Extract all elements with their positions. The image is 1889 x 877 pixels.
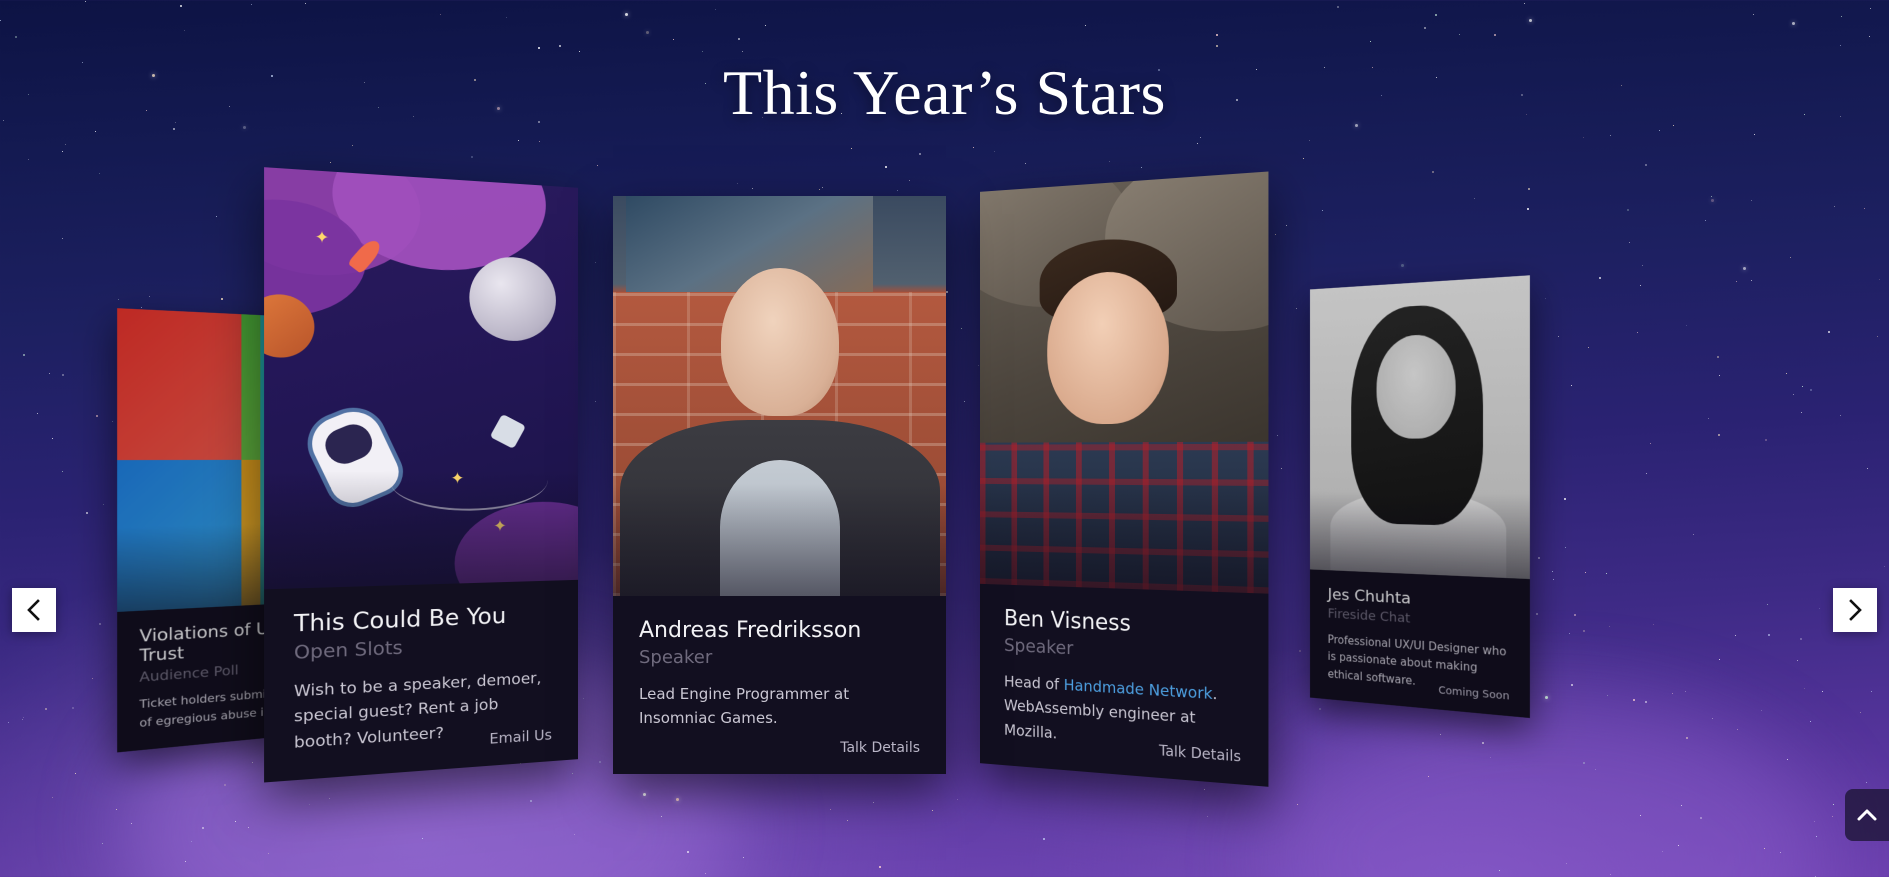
speaker-carousel: Violations of User Trust Audience Poll T… bbox=[0, 0, 1889, 877]
scroll-to-top-button[interactable] bbox=[1845, 789, 1889, 841]
card-description: Lead Engine Programmer at Insomniac Game… bbox=[639, 682, 920, 731]
portrait-photo bbox=[613, 196, 946, 596]
carousel-prev-button[interactable] bbox=[12, 588, 56, 632]
portrait-photo bbox=[1310, 275, 1530, 579]
card-description-text: Professional UX/UI Designer who is passi… bbox=[1328, 633, 1507, 687]
carousel-card-jes-chuhta[interactable]: Jes Chuhta Fireside Chat Professional UX… bbox=[1310, 275, 1530, 718]
card-description-prefix: Head of bbox=[1004, 672, 1064, 693]
card-body: Ben Visness Speaker Head of Handmade Net… bbox=[980, 584, 1268, 787]
carousel-card-andreas-fredriksson[interactable]: Andreas Fredriksson Speaker Lead Engine … bbox=[613, 196, 946, 774]
astronaut-illustration: ✦ ✦ ✦ bbox=[264, 167, 578, 589]
carousel-next-button[interactable] bbox=[1833, 588, 1877, 632]
card-cta-link[interactable]: Talk Details bbox=[840, 740, 920, 756]
card-title: Andreas Fredriksson bbox=[639, 618, 920, 644]
chevron-up-icon bbox=[1856, 808, 1878, 822]
portrait-photo bbox=[980, 171, 1268, 593]
card-description-text: Lead Engine Programmer at Insomniac Game… bbox=[639, 685, 849, 727]
card-media-portrait bbox=[980, 171, 1268, 593]
card-role: Speaker bbox=[639, 647, 920, 669]
card-cta-link[interactable]: Email Us bbox=[489, 727, 551, 747]
card-body: This Could Be You Open Slots Wish to be … bbox=[264, 580, 578, 783]
card-media-portrait bbox=[613, 196, 946, 596]
handmade-network-link[interactable]: Handmade Network bbox=[1064, 676, 1213, 703]
carousel-card-this-could-be-you[interactable]: ✦ ✦ ✦ This Could Be You Open Slots Wish … bbox=[264, 167, 578, 782]
carousel-card-ben-visness[interactable]: Ben Visness Speaker Head of Handmade Net… bbox=[980, 171, 1268, 786]
card-body: Andreas Fredriksson Speaker Lead Engine … bbox=[613, 596, 946, 774]
card-media-space-illustration: ✦ ✦ ✦ bbox=[264, 167, 578, 589]
page-title: This Year’s Stars bbox=[0, 56, 1889, 130]
card-media-portrait bbox=[1310, 275, 1530, 579]
card-body: Jes Chuhta Fireside Chat Professional UX… bbox=[1310, 569, 1530, 718]
chevron-right-icon bbox=[1845, 598, 1865, 622]
chevron-left-icon bbox=[24, 598, 44, 622]
